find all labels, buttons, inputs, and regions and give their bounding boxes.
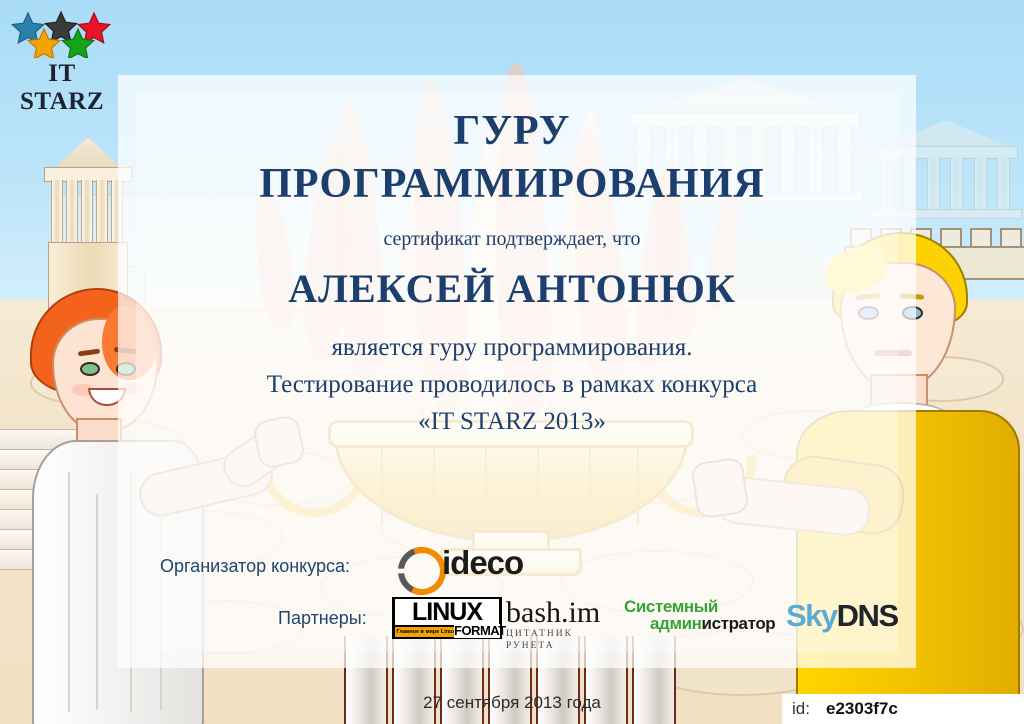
skydns-sky: Sky (786, 598, 837, 633)
linux-format-strip: Главное в мире Linux (395, 627, 457, 637)
sistemny-administrator-logo[interactable]: Системный администратор (624, 598, 778, 640)
certificate-title-line2: ПРОГРАММИРОВАНИЯ (0, 160, 1024, 208)
bash-im-title: bash.im (506, 598, 622, 628)
linux-format-subtitle: FORMAT (454, 624, 500, 638)
partners-label: Партнеры: (278, 608, 367, 629)
sysadmin-line1: Системный (624, 598, 778, 615)
certificate-body-line1: является гуру программирования. (0, 334, 1024, 362)
bash-im-logo[interactable]: bash.im ЦИТАТНИК РУНЕТА (506, 598, 622, 638)
skydns-logo[interactable]: SkyDNS (786, 596, 898, 636)
certificate-content: ГУРУ ПРОГРАММИРОВАНИЯ сертификат подтвер… (0, 0, 1024, 724)
skydns-dns: DNS (837, 598, 898, 633)
logo-wordmark: IT STARZ (10, 60, 114, 116)
organizer-label: Организатор конкурса: (160, 556, 350, 577)
bash-im-subtitle: ЦИТАТНИК РУНЕТА (506, 628, 622, 652)
sysadmin-line2-black: истратор (702, 614, 776, 633)
certificate-title-line1: ГУРУ (0, 107, 1024, 155)
it-starz-logo: IT STARZ (8, 10, 114, 92)
certificate-body-line2: Тестирование проводилось в рамках конкур… (0, 371, 1024, 399)
sysadmin-line2-green: админ (650, 614, 702, 633)
star-black-icon (45, 12, 77, 42)
certificate-id-box: id: e2303f7c (782, 694, 1024, 724)
certificate-id-value: e2303f7c (826, 699, 898, 719)
sysadmin-line2: администратор (650, 615, 778, 633)
certificate-id-label: id: (792, 699, 810, 719)
linux-format-title: LINUX (395, 599, 499, 625)
ideco-logo[interactable]: ideco (398, 544, 546, 586)
certificate-subtitle: сертификат подтверждает, что (0, 228, 1024, 251)
certificate-canvas: IT STARZ ГУРУ ПРОГРАММИРОВАНИЯ сертифика… (0, 0, 1024, 724)
ideco-mark-icon (398, 547, 434, 583)
logo-stars (8, 10, 114, 58)
linux-format-logo[interactable]: LINUX Главное в мире Linux FORMAT (392, 597, 502, 639)
recipient-name: АЛЕКСЕЙ АНТОНЮК (0, 265, 1024, 312)
ideco-wordmark: ideco (442, 544, 523, 582)
certificate-body-line3: «IT STARZ 2013» (0, 408, 1024, 436)
stars-svg (8, 10, 114, 58)
